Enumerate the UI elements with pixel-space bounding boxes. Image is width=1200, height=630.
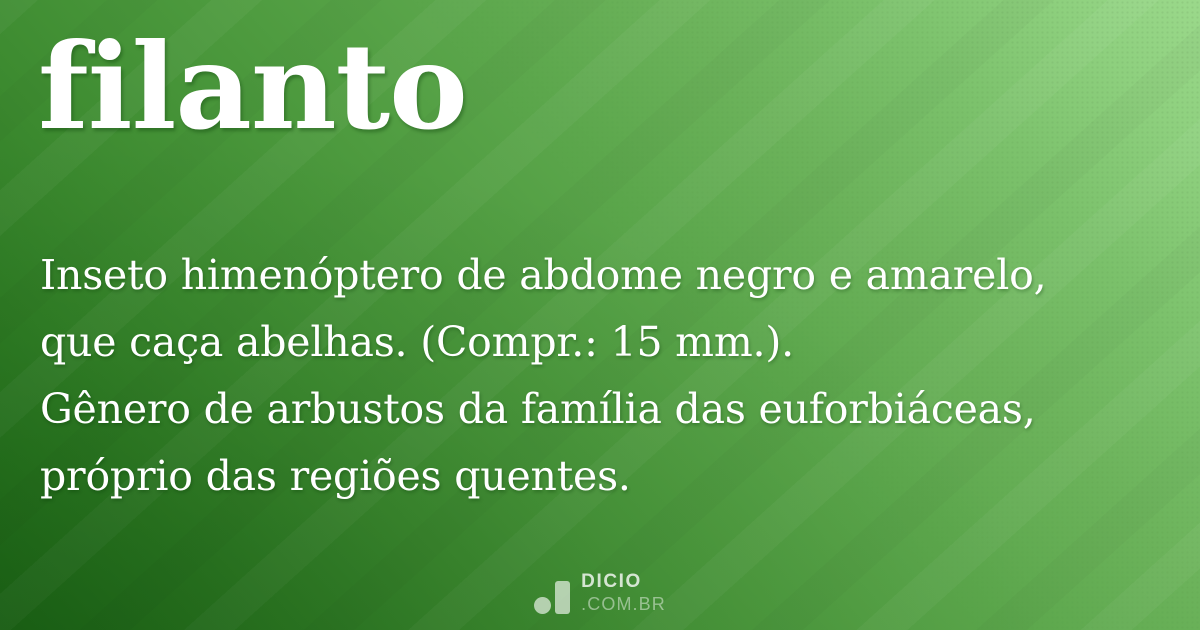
- dicio-logo-icon: [534, 581, 570, 614]
- bar-icon: [555, 581, 570, 614]
- page-title: filanto: [38, 28, 467, 146]
- definition-line: Gênero de arbustos da família das euforb…: [40, 376, 1160, 443]
- logo-wordmark: DICIO .COM.BR: [581, 572, 666, 614]
- definition-line: que caça abelhas. (Compr.: 15 mm.).: [40, 309, 1160, 376]
- definition-list: Inseto himenóptero de abdome negro e ama…: [40, 242, 1160, 510]
- definition-line: Inseto himenóptero de abdome negro e ama…: [40, 242, 1160, 309]
- definition-line: próprio das regiões quentes.: [40, 443, 1160, 510]
- logo-domain-suffix: .COM.BR: [581, 595, 666, 613]
- card-content: filanto Inseto himenóptero de abdome neg…: [0, 0, 1200, 630]
- logo-name: DICIO: [581, 572, 666, 591]
- dictionary-word-card: filanto Inseto himenóptero de abdome neg…: [0, 0, 1200, 630]
- site-logo: DICIO .COM.BR: [0, 572, 1200, 614]
- circle-icon: [534, 597, 551, 614]
